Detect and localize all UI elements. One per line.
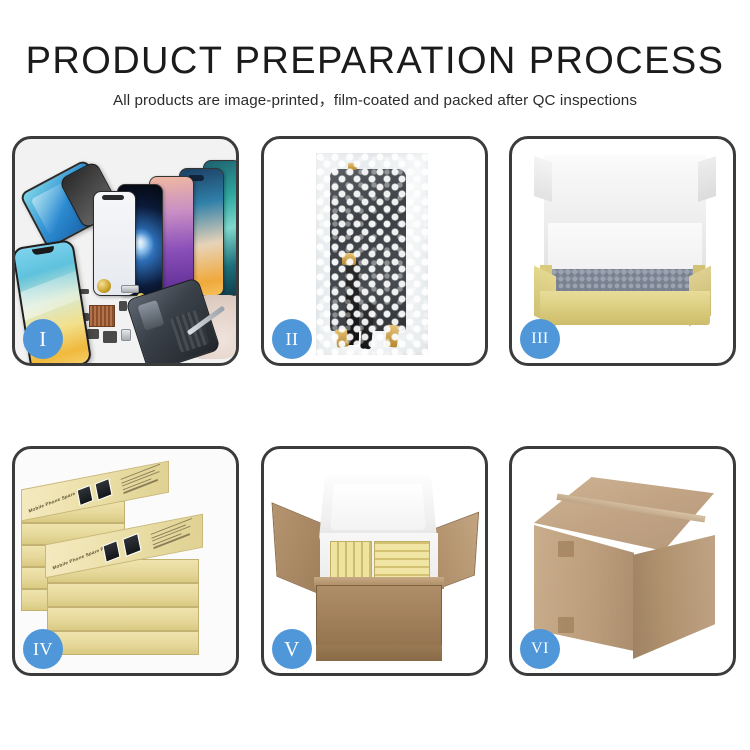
staple-mark-upper bbox=[558, 541, 574, 557]
process-step-panel-6: VI bbox=[509, 446, 736, 676]
phone-thumbnail-image bbox=[122, 533, 141, 557]
process-step-panel-5: V bbox=[261, 446, 488, 676]
staple-mark-lower bbox=[558, 617, 574, 633]
page-subtitle: All products are image-printed，film-coat… bbox=[0, 88, 750, 110]
process-step-panel-4: Mobile Phone Spare Parts Mobile Phone Sp… bbox=[12, 446, 239, 676]
list-item bbox=[47, 583, 199, 607]
phone-display-fan bbox=[93, 151, 236, 296]
phone-thumbnail-image bbox=[94, 478, 112, 501]
carton-right-panel bbox=[633, 535, 715, 659]
white-foam-sheet bbox=[548, 223, 702, 275]
spec-text-lines bbox=[121, 464, 164, 496]
process-step-grid: I II bbox=[12, 136, 738, 681]
process-step-panel-1: I bbox=[12, 136, 239, 366]
process-step-panel-2: II bbox=[261, 136, 488, 366]
screw-set-icon bbox=[121, 329, 131, 341]
step-badge-5: V bbox=[272, 629, 312, 669]
step-badge-1: I bbox=[23, 319, 63, 359]
kraft-box-front bbox=[540, 291, 710, 325]
bubble-texture-overlay bbox=[316, 153, 428, 355]
camera-module-icon bbox=[119, 301, 127, 311]
button-flex-icon bbox=[87, 329, 99, 339]
logic-chip-icon bbox=[89, 305, 115, 327]
carton-bottom-edge bbox=[316, 645, 442, 661]
list-item bbox=[47, 607, 199, 631]
speaker-mesh-icon bbox=[103, 331, 117, 343]
phone-thumbnail-image bbox=[102, 540, 120, 563]
header: PRODUCT PREPARATION PROCESS All products… bbox=[0, 0, 750, 130]
metal-bracket-icon bbox=[121, 285, 139, 293]
process-step-panel-3: III bbox=[509, 136, 736, 366]
step-badge-4: IV bbox=[23, 629, 63, 669]
speaker-coil-icon bbox=[97, 279, 111, 293]
list-item bbox=[47, 631, 199, 655]
page-title: PRODUCT PREPARATION PROCESS bbox=[0, 40, 750, 83]
phone-thumbnail-image bbox=[77, 485, 94, 506]
spec-text-lines bbox=[151, 518, 196, 551]
step-badge-6: VI bbox=[520, 629, 560, 669]
product-preparation-infographic: PRODUCT PREPARATION PROCESS All products… bbox=[0, 0, 750, 750]
bubble-wrap-bag bbox=[316, 153, 428, 355]
step-badge-2: II bbox=[272, 319, 312, 359]
step-badge-3: III bbox=[520, 319, 560, 359]
